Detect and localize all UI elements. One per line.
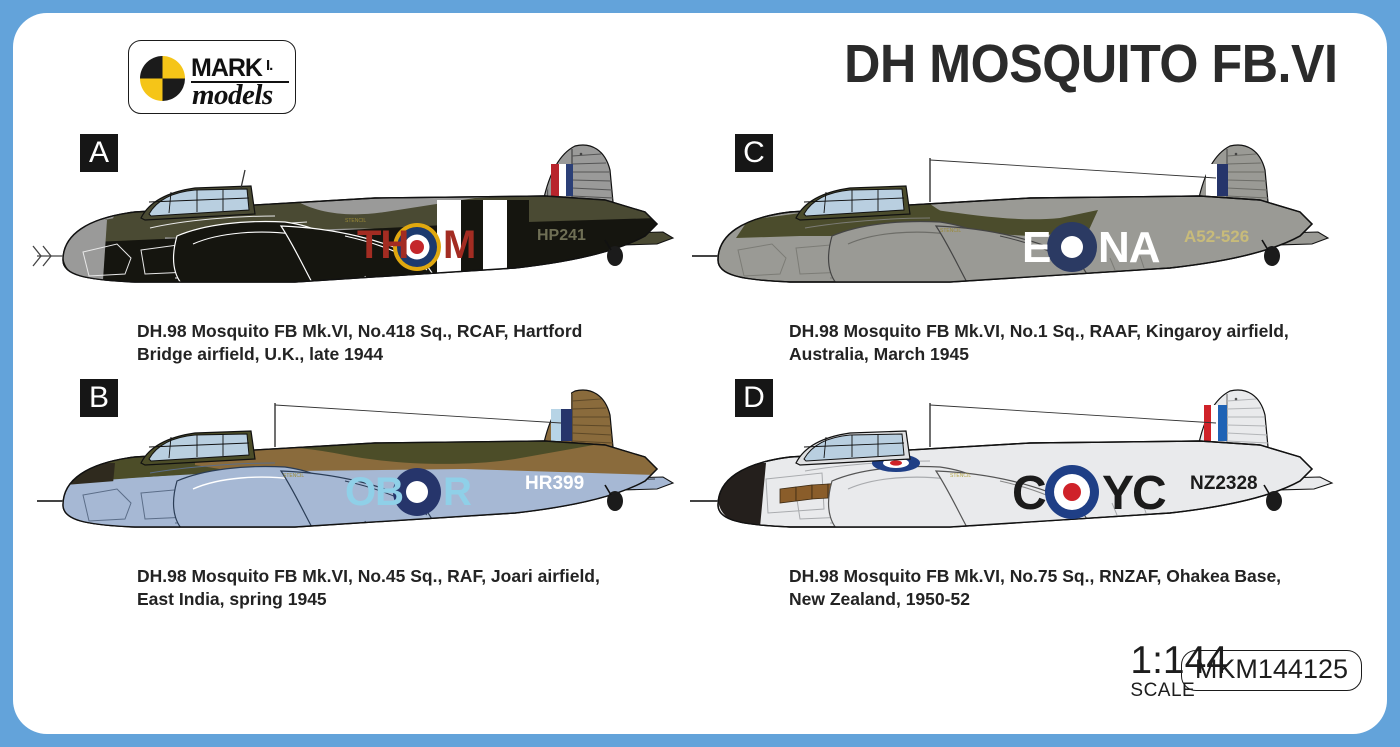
aircraft-profile-c: STENCIL E NA A52-526 (700, 140, 1340, 315)
roundel-c (1047, 222, 1097, 272)
profile-caption-c: DH.98 Mosquito FB Mk.VI, No.1 Sq., RAAF,… (789, 320, 1369, 367)
svg-text:E: E (1022, 223, 1051, 272)
brand-sub: models (192, 80, 292, 110)
svg-text:STENCIL: STENCIL (940, 228, 961, 234)
svg-text:A52-526: A52-526 (1184, 227, 1249, 246)
brand-logo: MARKI. models (128, 40, 296, 114)
decal-sheet: MARKI. models DH MOSQUITO FB.VI A (0, 0, 1400, 747)
kit-code-badge: MKM144125 (1181, 650, 1362, 691)
white-panel (13, 13, 1387, 734)
profile-caption-a: DH.98 Mosquito FB Mk.VI, No.418 Sq., RCA… (137, 320, 717, 367)
svg-text:NA: NA (1098, 223, 1160, 272)
svg-text:M: M (443, 223, 476, 267)
aircraft-profile-a: STENCIL (45, 140, 675, 315)
brand-name-text: MARK (191, 54, 262, 82)
svg-text:TH: TH (357, 223, 408, 267)
svg-text:C: C (1012, 467, 1047, 520)
svg-text:R: R (443, 470, 472, 514)
svg-text:NZ2328: NZ2328 (1190, 473, 1258, 494)
svg-text:HP241: HP241 (537, 227, 586, 244)
logo-quartered-circle-icon (140, 56, 185, 101)
svg-text:YC: YC (1102, 467, 1166, 520)
page-title: DH MOSQUITO FB.VI (845, 33, 1338, 95)
aircraft-profile-b: STENCIL OB (45, 385, 675, 560)
aircraft-profile-d: STENCIL C YC (700, 385, 1340, 560)
svg-text:HR399: HR399 (525, 473, 584, 494)
brand-roman-text: I. (266, 57, 272, 74)
svg-text:STENCIL: STENCIL (950, 473, 971, 479)
svg-text:OB: OB (345, 470, 403, 514)
profile-caption-d: DH.98 Mosquito FB Mk.VI, No.75 Sq., RNZA… (789, 565, 1369, 612)
svg-text:STENCIL: STENCIL (283, 473, 304, 479)
roundel-d (1045, 465, 1099, 519)
profile-caption-b: DH.98 Mosquito FB Mk.VI, No.45 Sq., RAF,… (137, 565, 717, 612)
